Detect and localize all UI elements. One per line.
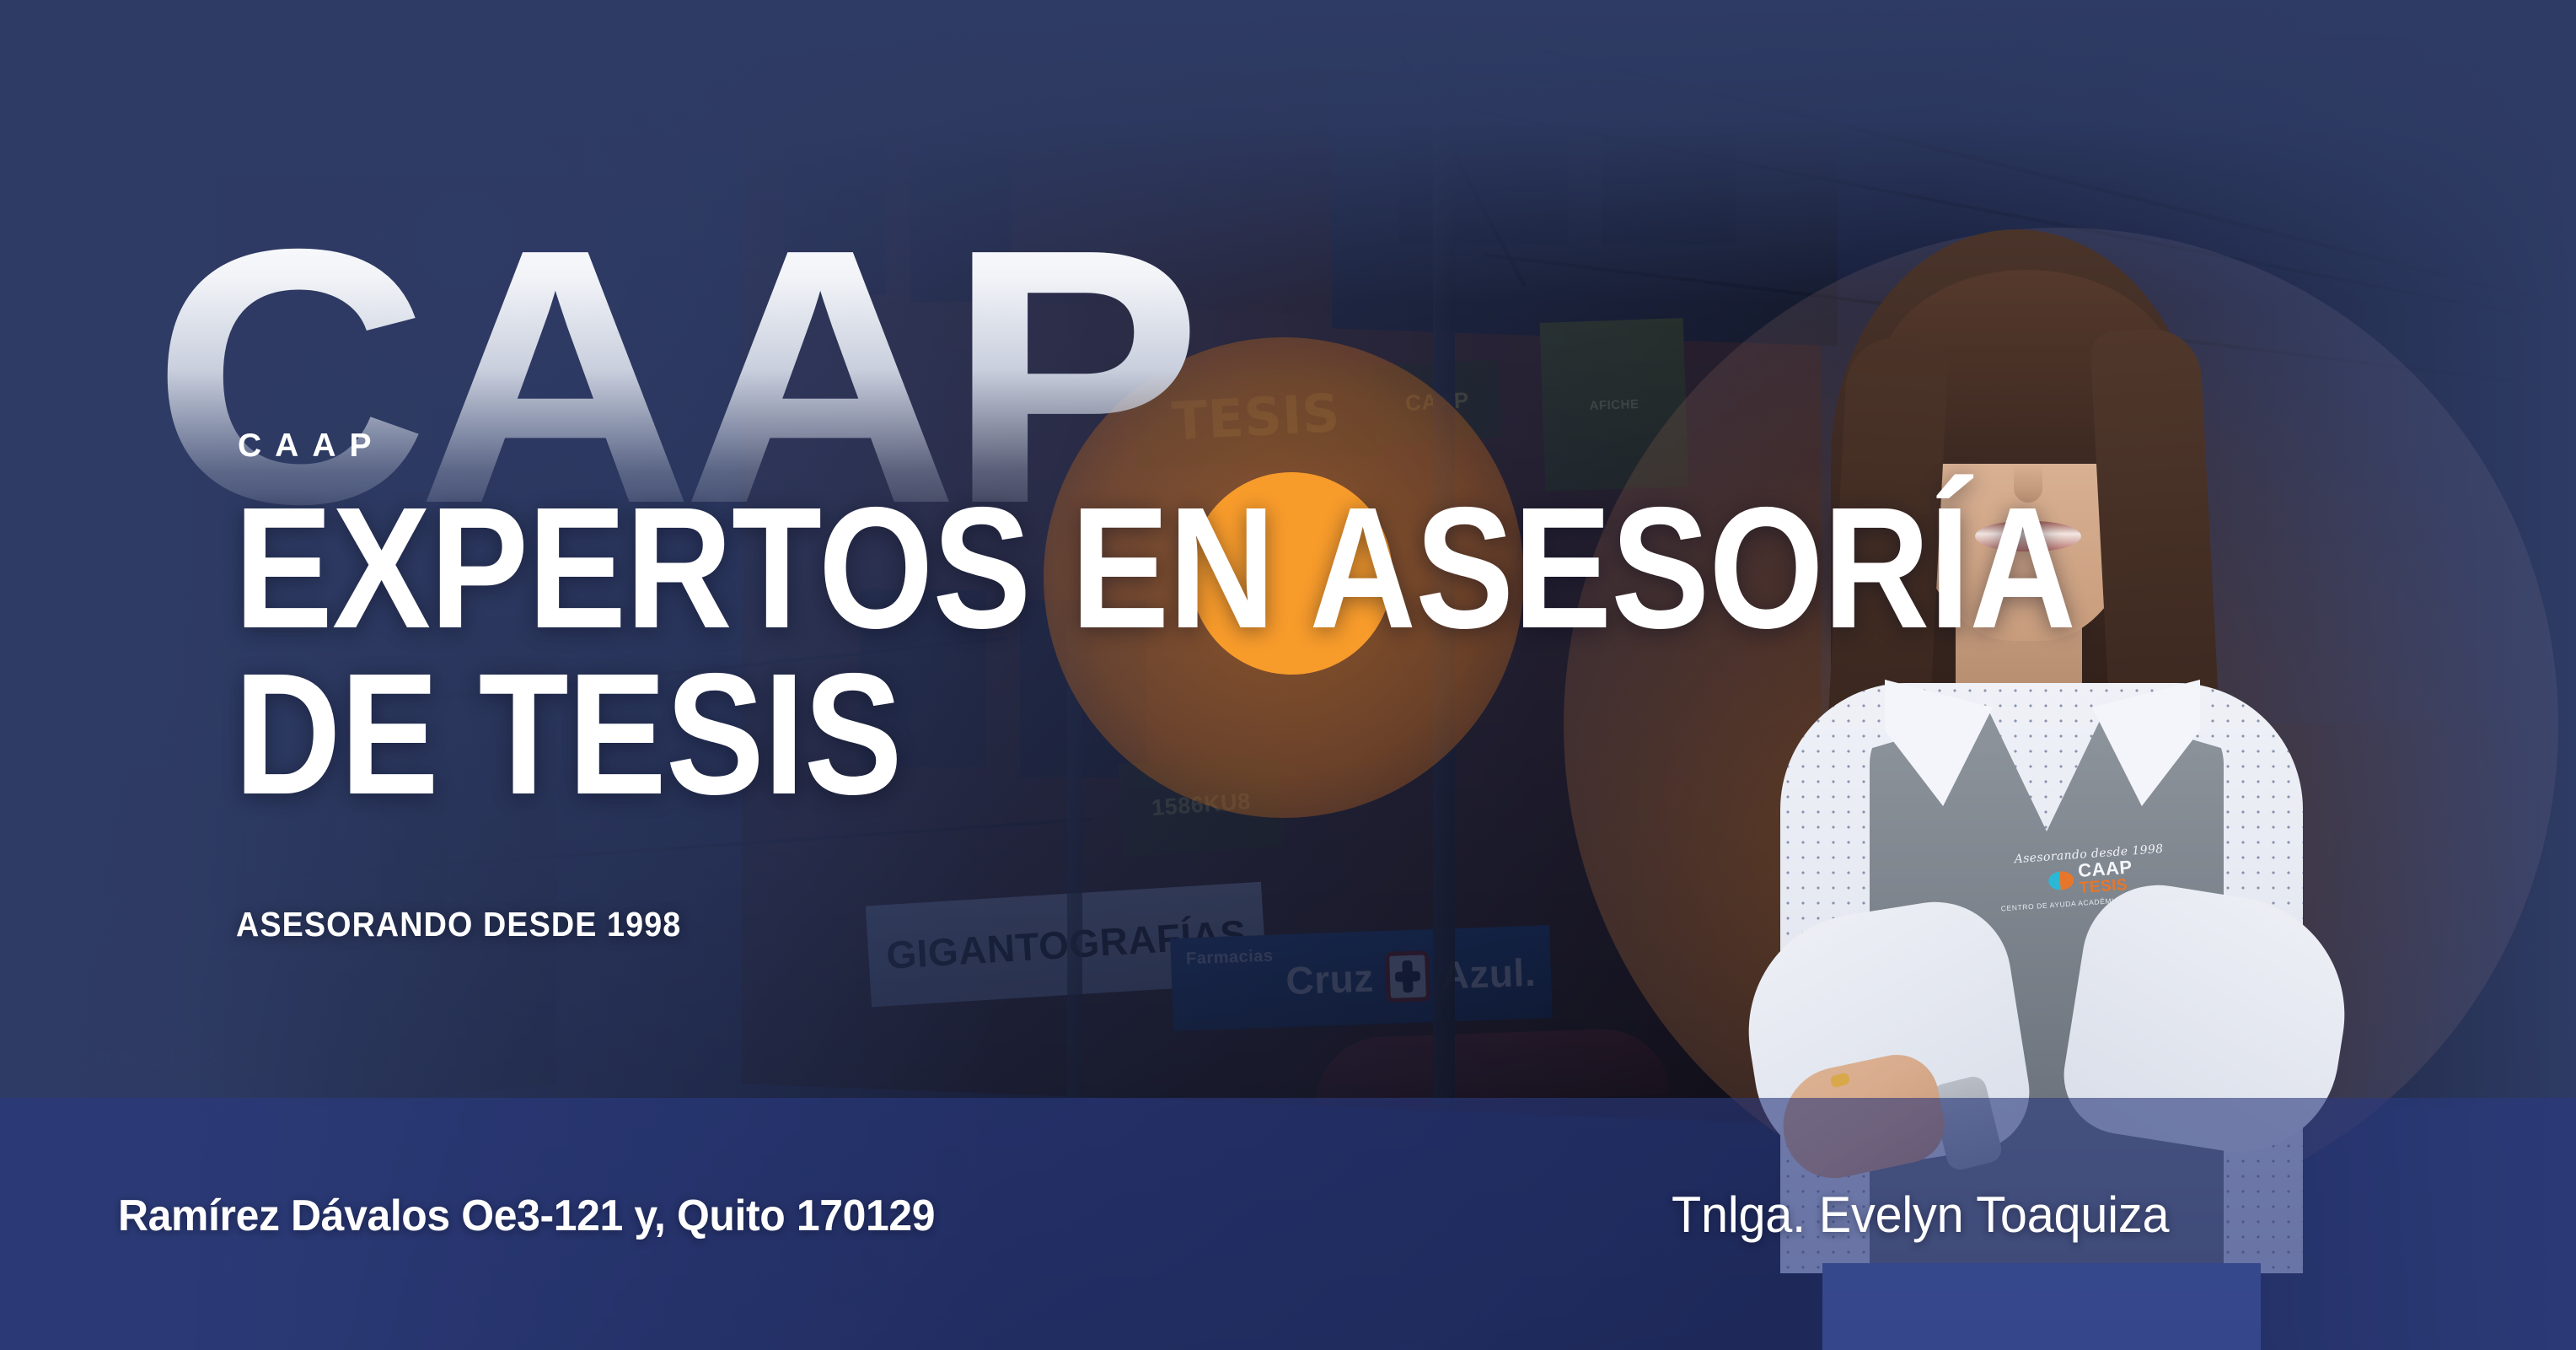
uniform-logo-product: TESIS xyxy=(2079,877,2128,896)
banner-canvas: TESIS CAAP AFICHE 1586KU8 GIGANTOGRAFÍAS… xyxy=(0,0,2576,1350)
tagline: ASESORANDO DESDE 1998 xyxy=(236,905,681,944)
brand-label: CAAP xyxy=(238,428,385,465)
uniform-logo-row: CAAP TESIS xyxy=(2047,858,2134,899)
page-title: EXPERTOS EN ASESORÍA DE TESIS xyxy=(234,486,2075,818)
footer-address: Ramírez Dávalos Oe3-121 y, Quito 170129 xyxy=(118,1191,935,1241)
uniform-logo: Asesorando desde 1998 CAAP TESIS CENTRO … xyxy=(1995,826,2187,927)
footer-person-name: Tnlga. Evelyn Toaquiza xyxy=(1672,1186,2169,1244)
headline-line-2: DE TESIS xyxy=(234,652,2075,818)
caap-swoosh-icon xyxy=(2047,870,2074,890)
headline-line-1: EXPERTOS EN ASESORÍA xyxy=(234,471,2075,664)
